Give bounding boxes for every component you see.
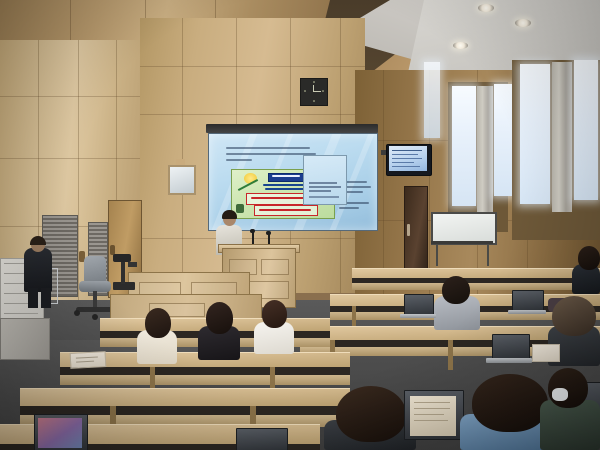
downlight-icon (453, 42, 468, 49)
bench-seat (352, 283, 600, 290)
desk-row (20, 388, 350, 407)
laptop-screen[interactable] (404, 294, 434, 316)
slide-subtitle (265, 188, 305, 190)
microphone-head-icon (250, 229, 255, 233)
handout-paper (70, 351, 107, 369)
person-hair (336, 386, 406, 442)
person-leg (41, 288, 51, 308)
slide-emphasis-box (254, 205, 318, 216)
wall-speaker (168, 165, 196, 195)
office-chair-back (84, 256, 106, 283)
wall-clock (300, 78, 328, 106)
person-leg (28, 288, 38, 308)
window (452, 86, 476, 206)
slide-side-note (339, 207, 359, 209)
face-mask (552, 388, 568, 401)
person-hair (262, 300, 287, 328)
downlight-icon (478, 4, 494, 12)
window (520, 64, 550, 204)
whiteboard-tray (431, 241, 493, 244)
person-hair (30, 236, 46, 245)
whiteboard-leg (436, 244, 438, 266)
curtain (477, 86, 493, 216)
microphone-head-icon (266, 231, 271, 235)
person-hair (472, 374, 548, 432)
caster-icon (92, 314, 98, 320)
person-hair (578, 246, 600, 270)
window (574, 60, 598, 200)
person-hair (552, 296, 596, 336)
document-camera-head (113, 254, 131, 262)
equipment-cabinet (0, 318, 50, 360)
window (494, 84, 512, 196)
person-hair (442, 276, 470, 304)
laptop-base[interactable] (400, 314, 436, 318)
desk-gap (60, 367, 350, 375)
document-camera-lamp (128, 262, 137, 267)
person-hair (206, 302, 233, 334)
laptop-screen[interactable] (512, 290, 544, 312)
figure-icon (236, 204, 244, 213)
seated-person-left (24, 248, 52, 292)
lecture-hall-photo (0, 0, 600, 450)
slide-heading-line (226, 159, 252, 161)
door-handle-icon[interactable] (407, 224, 410, 236)
downlight-icon (515, 19, 531, 27)
laptop-colored-content (38, 418, 82, 448)
laptop-base[interactable] (508, 310, 546, 314)
caster-icon (74, 310, 80, 316)
person-hair (145, 308, 171, 338)
monitor-screen (389, 146, 427, 171)
desk-leg (448, 340, 453, 370)
office-chair-base (76, 307, 114, 312)
slide-heading-line (226, 147, 310, 149)
secondary-slide-panel (303, 155, 347, 205)
whiteboard-leg (487, 244, 489, 266)
screen-valance (206, 124, 378, 133)
presenter-hair (222, 210, 237, 219)
bench-seat (60, 375, 350, 385)
slide-subtitle (263, 184, 307, 186)
laptop-screen[interactable] (492, 334, 530, 360)
laptop-screen[interactable] (236, 428, 288, 450)
handout-paper (532, 344, 560, 362)
window-small-left (424, 62, 440, 138)
laptop-base[interactable] (486, 358, 532, 363)
curtain (552, 62, 572, 212)
